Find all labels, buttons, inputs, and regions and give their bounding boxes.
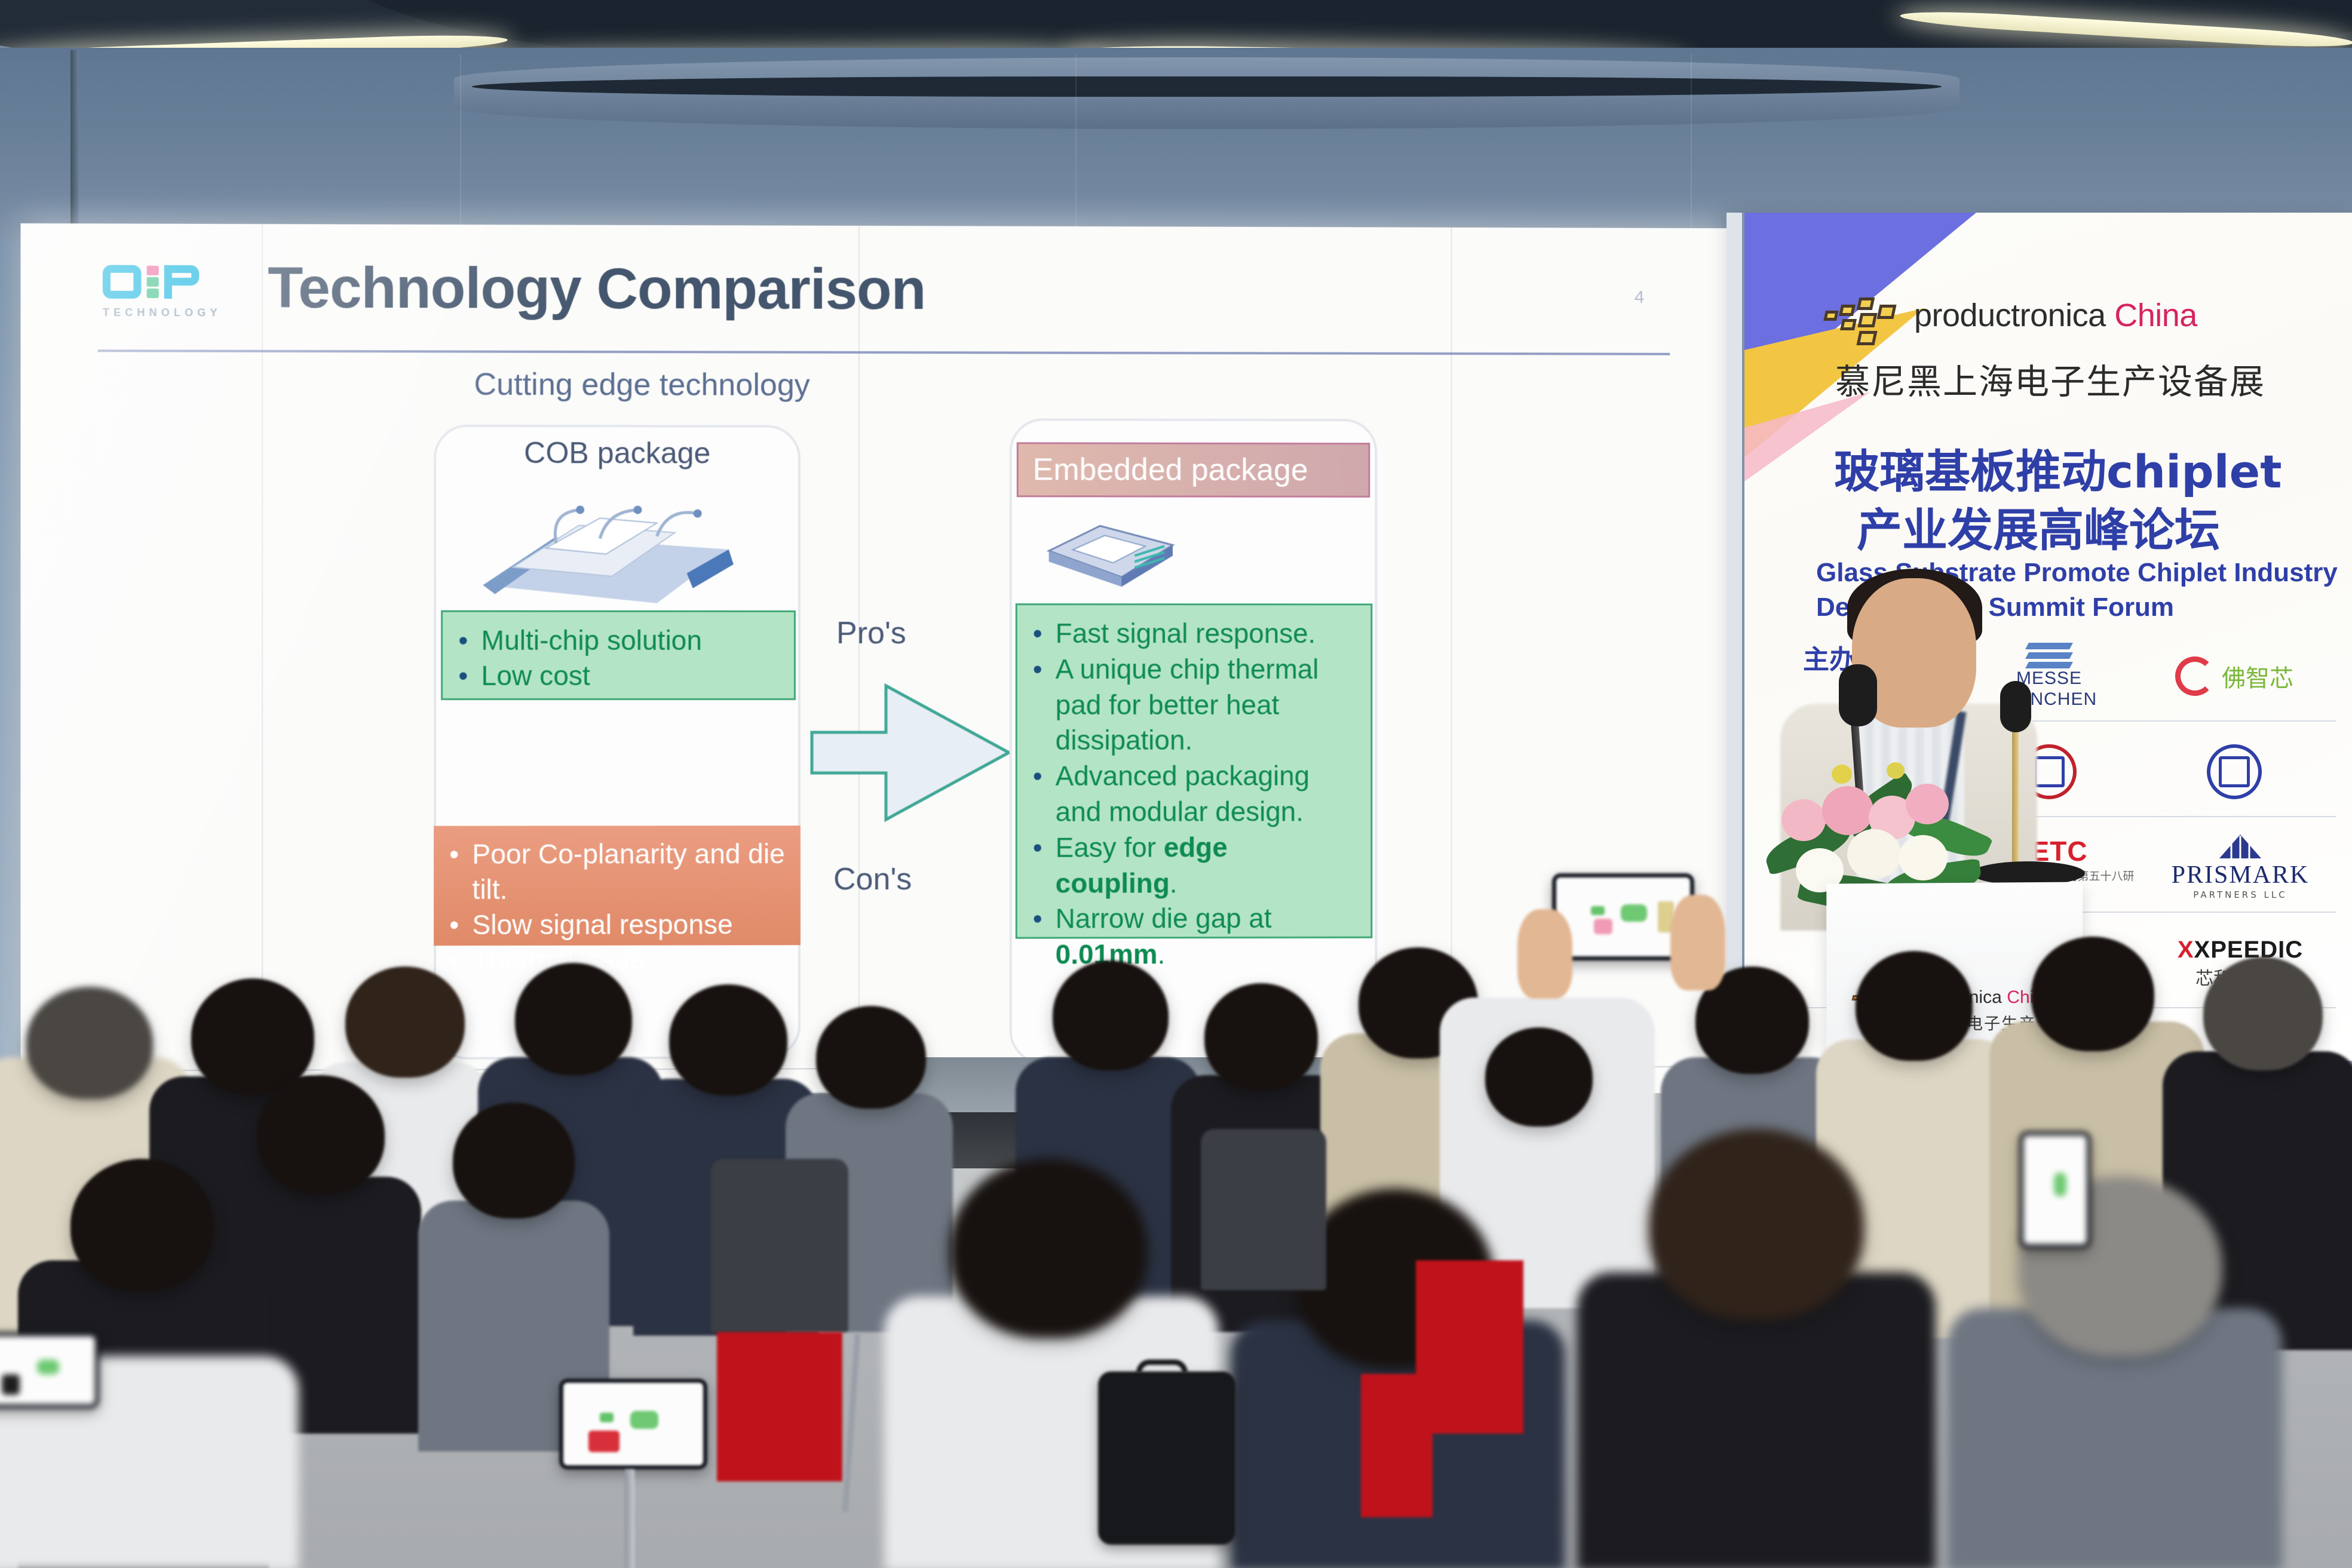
hand-holding-phone <box>1670 895 1725 990</box>
soffit-shadow <box>472 76 1942 97</box>
cob-package-illustration <box>477 483 734 609</box>
attendee-head <box>1053 961 1169 1070</box>
fozhixin-icon <box>2175 656 2215 696</box>
cob-pro-text: Multi-chip solution <box>482 623 702 658</box>
audience <box>0 878 2352 1568</box>
microphone-head-icon <box>1839 664 1877 726</box>
attendee-head <box>191 978 314 1096</box>
bullet-dot-icon: • <box>458 623 468 658</box>
backpack <box>1098 1371 1235 1545</box>
oip-letter-p-icon <box>164 265 200 299</box>
list-item: • A unique chip thermal pad for better h… <box>1033 652 1356 759</box>
smartphone-recording[interactable] <box>0 1332 99 1409</box>
productronica-logo: productronica China <box>1822 284 2197 346</box>
wall-pillar <box>70 50 79 247</box>
embedded-benefit-text: A unique chip thermal pad for better hea… <box>1056 652 1356 759</box>
institute-seal-icon <box>2207 744 2262 799</box>
attendee-head-front <box>950 1159 1147 1338</box>
list-item: • Advanced packaging and modular design. <box>1033 759 1356 830</box>
backpack-handle <box>1136 1360 1188 1373</box>
attendee-head <box>1856 951 1973 1061</box>
list-item: • Multi-chip solution <box>458 623 778 658</box>
attendee-head <box>453 1103 575 1219</box>
embedded-package-heading: Embedded package <box>1017 442 1370 498</box>
wall-seam <box>1691 54 1692 245</box>
phone-screen <box>563 1383 703 1465</box>
sponsor-messe-muenchen: MESSE MÜNCHEN <box>1971 640 2127 712</box>
presentation-slide: TECHNOLOGY Technology Comparison 4 Cutti… <box>20 223 1705 837</box>
attendee-head <box>257 1075 385 1195</box>
bullet-dot-icon: • <box>1033 616 1042 652</box>
brand-region: China <box>2114 297 2197 333</box>
prismark-fan-icon <box>2219 834 2261 861</box>
oip-logo-subtext: TECHNOLOGY <box>103 306 241 320</box>
embedded-benefit-text: Fast signal response. <box>1056 616 1316 652</box>
phone-screen <box>0 1336 95 1404</box>
slide-subtitle: Cutting edge technology <box>474 367 809 403</box>
bullet-dot-icon: • <box>1033 759 1042 830</box>
chair <box>711 1159 848 1332</box>
conference-room: TECHNOLOGY Technology Comparison 4 Cutti… <box>0 0 2352 1568</box>
sponsor-fozhixin: 佛智芯 <box>2145 640 2324 712</box>
forum-title-cn-line2: 产业发展高峰论坛 <box>1857 493 2220 559</box>
microphone-head-icon <box>2000 681 2031 732</box>
attendee-head <box>669 984 787 1096</box>
slide-page-number-top: 4 <box>1635 287 1645 308</box>
chair-skirt <box>1361 1374 1433 1517</box>
selfie-stick[interactable] <box>625 1469 634 1568</box>
attendee-head <box>816 1006 926 1109</box>
chair-skirt <box>717 1332 842 1481</box>
cob-package-heading: COB package <box>434 435 801 471</box>
attendee-head <box>26 987 153 1099</box>
bullet-dot-icon: • <box>1033 652 1042 759</box>
list-item: • Low cost <box>458 658 778 694</box>
chair <box>1201 1129 1326 1290</box>
oip-logo: TECHNOLOGY <box>103 261 241 327</box>
pros-label: Pro's <box>836 615 906 651</box>
attendee-head <box>1204 983 1318 1091</box>
wall-seam <box>1075 54 1077 245</box>
productronica-wordmark: productronica China <box>1914 297 2197 334</box>
cob-pro-text: Low cost <box>482 658 590 694</box>
title-divider <box>98 349 1670 355</box>
forum-title-cn-line1: 玻璃基板推动chiplet <box>1834 435 2282 501</box>
messe-muenchen-icon <box>2027 643 2071 668</box>
wall-seam <box>460 54 461 245</box>
productronica-chinese-name: 慕尼黑上海电子生产设备展 <box>1835 354 2265 404</box>
attendee-head <box>70 1159 214 1291</box>
attendee-head <box>1485 1027 1593 1127</box>
transition-arrow-icon <box>809 669 1013 836</box>
embedded-benefit-text: Advanced packaging and modular design. <box>1056 759 1356 830</box>
slide-title: Technology Comparison <box>268 255 925 323</box>
attendee-head-front <box>1649 1129 1864 1320</box>
smartphone-recording[interactable] <box>2019 1131 2091 1248</box>
attendee-head <box>2031 937 2154 1051</box>
list-item: • Fast signal response. <box>1033 616 1356 652</box>
cob-pros-box: • Multi-chip solution • Low cost <box>441 610 796 700</box>
embedded-package-illustration <box>1045 520 1176 597</box>
bullet-dot-icon: • <box>458 658 468 694</box>
productronica-mark-icon <box>1822 284 1901 346</box>
attendee-head <box>345 966 465 1078</box>
hand-holding-phone <box>1517 909 1572 999</box>
oip-letter-o-icon <box>103 265 142 299</box>
phone-screen <box>2023 1136 2087 1244</box>
smartphone-recording[interactable] <box>559 1379 707 1469</box>
sponsor-name-cn: 佛智芯 <box>2222 659 2293 694</box>
attendee-head <box>515 963 632 1075</box>
embedded-package-heading-text: Embedded package <box>1033 452 1308 488</box>
oip-letter-i-icon <box>147 266 159 298</box>
sponsor-advanced-packaging-institute <box>2163 736 2306 808</box>
brand-name: productronica <box>1914 297 2106 333</box>
attendee-head <box>2203 957 2323 1070</box>
